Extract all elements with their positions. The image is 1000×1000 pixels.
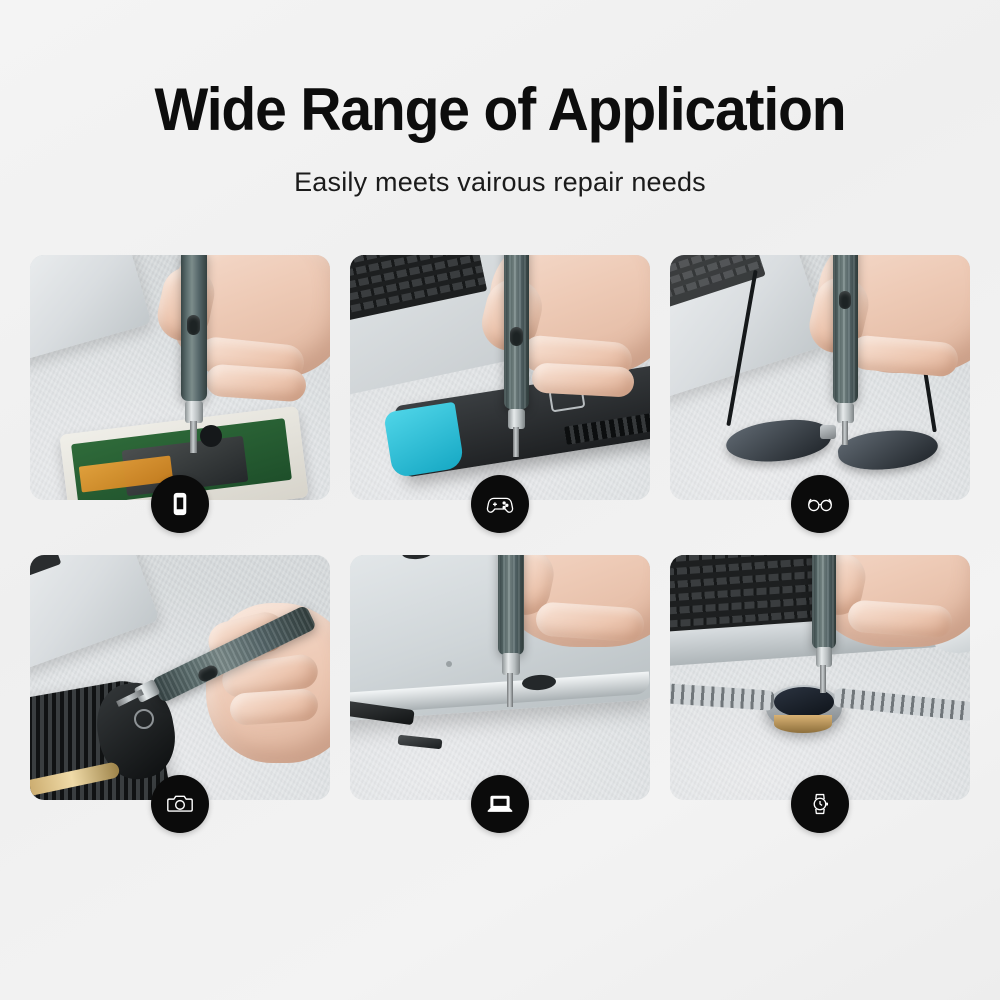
application-panel-grid [30,255,970,800]
page-header: Wide Range of Application Easily meets v… [0,0,1000,198]
tool-chuck [502,653,520,675]
page-title: Wide Range of Application [25,78,975,141]
badge-camera[interactable] [151,775,209,833]
precision-screwdriver [833,255,858,403]
middle-finger [229,688,319,726]
camera-screw-point [134,709,154,729]
tool-chuck [508,409,525,429]
badge-eyeglasses[interactable] [791,475,849,533]
badge-game-controller[interactable] [471,475,529,533]
laptop-screw-hole [446,661,452,667]
panel-laptop-photo [350,555,650,800]
panel-laptop[interactable] [350,555,650,800]
panel-eyeglasses-photo [670,255,970,500]
smartphone-icon [167,491,193,517]
middle-finger [205,364,307,403]
middle-finger [531,362,634,397]
wristwatch-icon [806,790,834,818]
tool-bit [190,421,197,453]
badge-laptop[interactable] [471,775,529,833]
panel-game-console[interactable] [350,255,650,500]
panel-phone[interactable] [30,255,330,500]
panel-eyeglasses[interactable] [670,255,970,500]
game-controller-icon [485,489,515,519]
tool-bit [842,421,848,445]
watch-case-gold [774,715,832,733]
panel-camera[interactable] [30,555,330,800]
page-subtitle: Easily meets vairous repair needs [0,167,1000,198]
badge-wristwatch[interactable] [791,775,849,833]
eyeglasses-icon [805,489,835,519]
laptop-icon [485,789,515,819]
joycon-cyan [383,402,464,478]
tool-power-button [187,315,200,335]
panel-phone-photo [30,255,330,500]
sunglasses-hinge [820,425,836,439]
panel-watch[interactable] [670,555,970,800]
precision-screwdriver [812,555,836,649]
tool-power-button [510,327,523,346]
camera-icon [165,789,195,819]
panel-watch-photo [670,555,970,800]
tool-bit [513,427,519,457]
tool-chuck [185,401,203,423]
badge-smartphone[interactable] [151,475,209,533]
tool-bit [507,673,513,707]
panel-camera-photo [30,555,330,800]
precision-screwdriver [498,555,524,655]
tool-bit [820,665,826,693]
tool-chuck [816,647,832,667]
panel-game-console-photo [350,255,650,500]
tool-chuck [837,403,854,423]
tool-power-button [839,291,851,309]
